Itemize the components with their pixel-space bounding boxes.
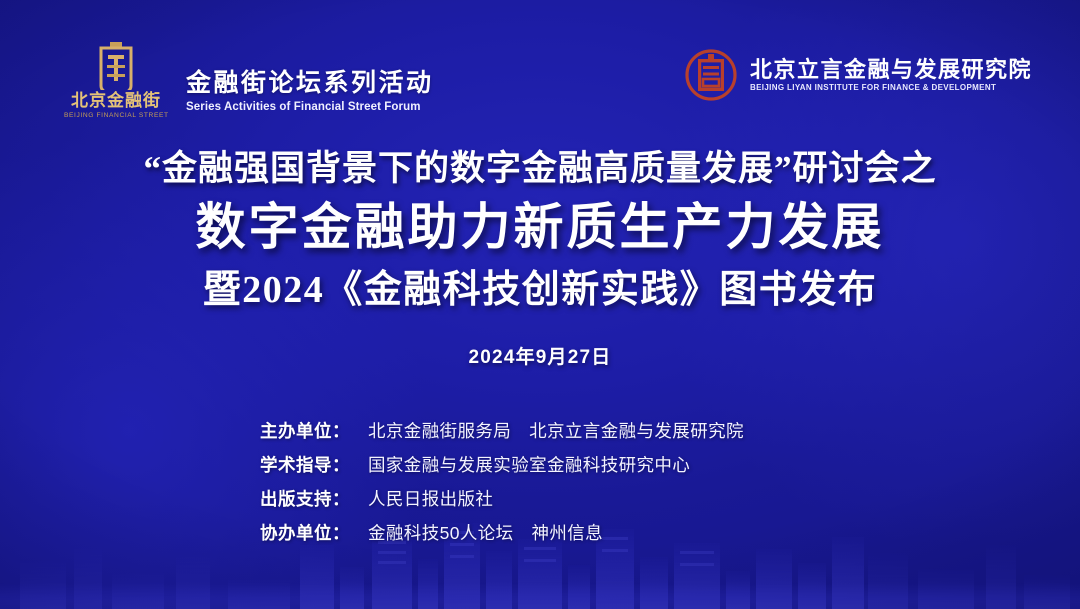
skyline-ground-glow bbox=[0, 583, 1080, 609]
liyan-english-name: BEIJING LIYAN INSTITUTE FOR FINANCE & DE… bbox=[750, 84, 1032, 92]
bfs-chinese-name: 北京金融街 bbox=[71, 92, 161, 110]
credit-row: 协办单位： 金融科技50人论坛 神州信息 bbox=[260, 520, 820, 545]
forum-series-chinese: 金融街论坛系列活动 bbox=[186, 70, 434, 98]
title-line-2-main: 数字金融助力新质生产力发展 bbox=[0, 199, 1080, 257]
liyan-institute-logo: 北京立言金融与发展研究院 BEIJING LIYAN INSTITUTE FOR… bbox=[684, 48, 1032, 102]
credit-label: 学术指导： bbox=[260, 452, 368, 477]
gate-seal-icon bbox=[96, 40, 136, 90]
organizer-credits: 主办单位： 北京金融街服务局 北京立言金融与发展研究院 学术指导： 国家金融与发… bbox=[0, 418, 1080, 545]
liyan-text-block: 北京立言金融与发展研究院 BEIJING LIYAN INSTITUTE FOR… bbox=[750, 58, 1032, 92]
title-line-3-book-launch: 暨2024《金融科技创新实践》图书发布 bbox=[0, 269, 1080, 313]
bfs-english-name: BEIJING FINANCIAL STREET bbox=[64, 112, 169, 119]
conference-poster: 北京金融街 BEIJING FINANCIAL STREET 金融街论坛系列活动… bbox=[0, 0, 1080, 609]
credit-row: 学术指导： 国家金融与发展实验室金融科技研究中心 bbox=[260, 452, 820, 477]
liyan-chinese-name: 北京立言金融与发展研究院 bbox=[750, 58, 1032, 81]
bfs-logo-mark: 北京金融街 BEIJING FINANCIAL STREET bbox=[62, 40, 170, 119]
credit-row: 主办单位： 北京金融街服务局 北京立言金融与发展研究院 bbox=[260, 418, 820, 443]
credit-label: 主办单位： bbox=[260, 418, 368, 443]
beijing-financial-street-logo: 北京金融街 BEIJING FINANCIAL STREET 金融街论坛系列活动… bbox=[62, 40, 434, 119]
credit-value: 国家金融与发展实验室金融科技研究中心 bbox=[368, 452, 820, 477]
title-line-1: “金融强国背景下的数字金融高质量发展”研讨会之 bbox=[0, 148, 1080, 189]
credit-value: 人民日报出版社 bbox=[368, 486, 820, 511]
liyan-round-seal-icon bbox=[684, 48, 738, 102]
poster-header: 北京金融街 BEIJING FINANCIAL STREET 金融街论坛系列活动… bbox=[0, 40, 1080, 126]
credit-label: 出版支持： bbox=[260, 486, 368, 511]
event-date: 2024年9月27日 bbox=[0, 342, 1080, 369]
credit-row: 出版支持： 人民日报出版社 bbox=[260, 486, 820, 511]
credit-value: 北京金融街服务局 北京立言金融与发展研究院 bbox=[368, 418, 820, 443]
credit-value: 金融科技50人论坛 神州信息 bbox=[368, 520, 820, 545]
forum-series-english: Series Activities of Financial Street Fo… bbox=[186, 101, 434, 113]
credit-label: 协办单位： bbox=[260, 520, 368, 545]
poster-title-block: “金融强国背景下的数字金融高质量发展”研讨会之 数字金融助力新质生产力发展 暨2… bbox=[0, 148, 1080, 369]
forum-series-text: 金融街论坛系列活动 Series Activities of Financial… bbox=[186, 70, 434, 119]
